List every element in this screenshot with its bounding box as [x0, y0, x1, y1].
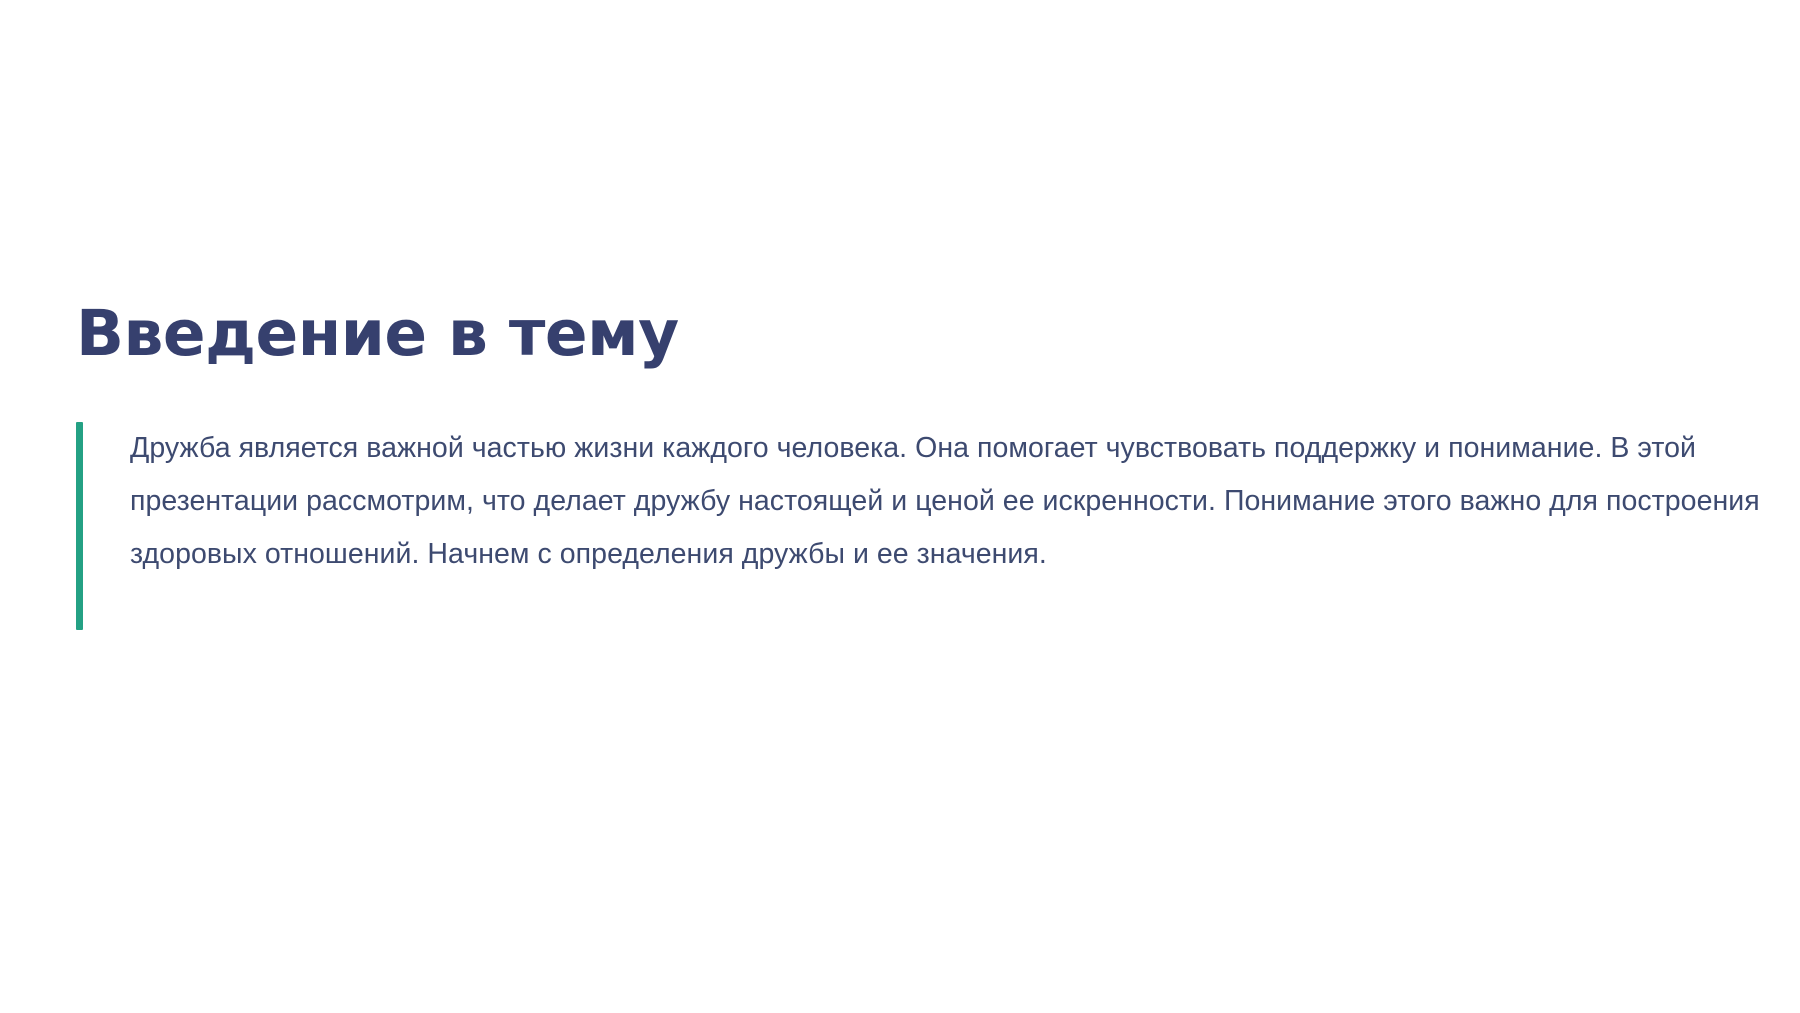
- accent-bar: [76, 422, 83, 630]
- body-text-block: Дружба является важной частью жизни кажд…: [76, 422, 1776, 630]
- slide-content: Введение в тему Дружба является важной ч…: [76, 300, 1776, 630]
- page-title: Введение в тему: [76, 300, 1776, 368]
- body-paragraph: Дружба является важной частью жизни кажд…: [130, 422, 1766, 581]
- presentation-slide: Введение в тему Дружба является важной ч…: [0, 0, 1800, 1013]
